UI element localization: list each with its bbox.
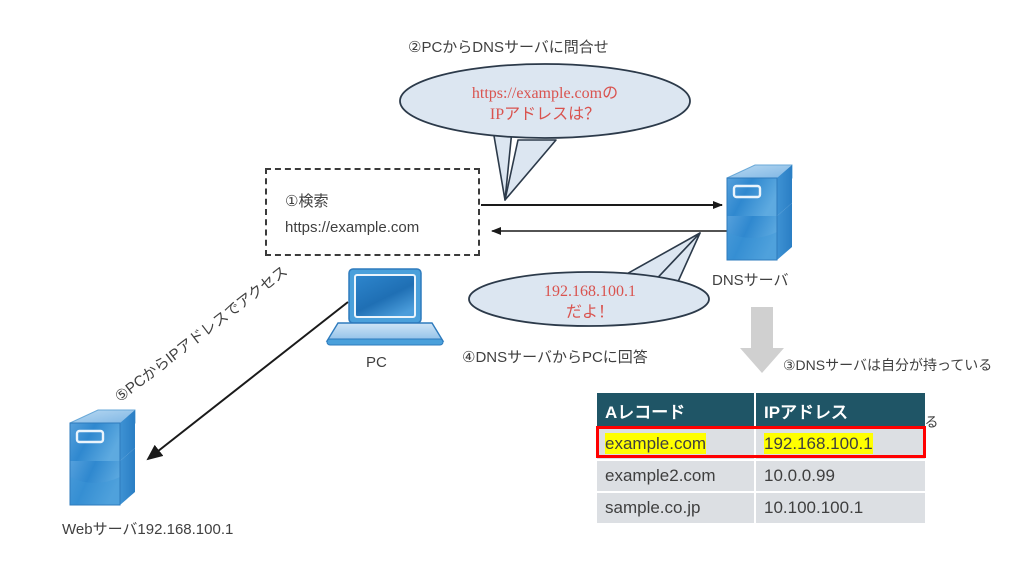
caption-step2: ②PCからDNSサーバに問合せ [408,36,609,57]
cell-ip: 10.0.0.99 [755,460,925,492]
column-header-record: Aレコード [597,393,755,429]
table-row: example2.com 10.0.0.99 [597,460,925,492]
label-pc: PC [366,354,387,371]
search-step-label: ①検索 [285,190,328,211]
diagram-canvas: ②PCからDNSサーバに問合せ ①検索 https://example.com … [0,0,1024,576]
caption-step4: ④DNSサーバからPCに回答 [462,346,648,367]
dns-server-icon [727,165,792,260]
bubble-answer-text: 192.168.100.1 だよ！ [505,281,675,323]
bubble-answer-line2: だよ！ [505,302,675,323]
label-step5: ⑤PCからIPアドレスでアクセス [110,207,361,406]
pc-laptop-icon [327,269,443,345]
cell-ip: 192.168.100.1 [755,429,925,460]
label-web-server: Webサーバ192.168.100.1 [62,518,233,539]
cell-ip-text: 192.168.100.1 [764,433,873,454]
table-header-row: Aレコード IPアドレス [597,393,925,429]
search-box [265,168,480,256]
arrow-dns-to-table [740,307,784,373]
cell-record: sample.co.jp [597,492,755,524]
bubble-query-line2: IPアドレスは？ [440,104,650,125]
web-server-icon [70,410,135,505]
bubble-query-text: https://example.comの IPアドレスは？ [440,83,650,125]
caption-step3-line1: ③DNSサーバは自分が持っている [783,356,992,375]
table-row: sample.co.jp 10.100.100.1 [597,492,925,524]
table-row: example.com 192.168.100.1 [597,429,925,460]
label-dns-server: DNSサーバ [712,269,789,290]
cell-record: example2.com [597,460,755,492]
arrow-pc-to-webserver [148,302,348,459]
cell-ip: 10.100.100.1 [755,492,925,524]
dns-record-table: Aレコード IPアドレス example.com 192.168.100.1 e… [597,393,925,525]
bubble-answer-line1: 192.168.100.1 [505,281,675,302]
cell-record: example.com [597,429,755,460]
column-header-ip: IPアドレス [755,393,925,429]
bubble-query-line1: https://example.comの [440,83,650,104]
cell-record-text: example.com [605,433,706,454]
